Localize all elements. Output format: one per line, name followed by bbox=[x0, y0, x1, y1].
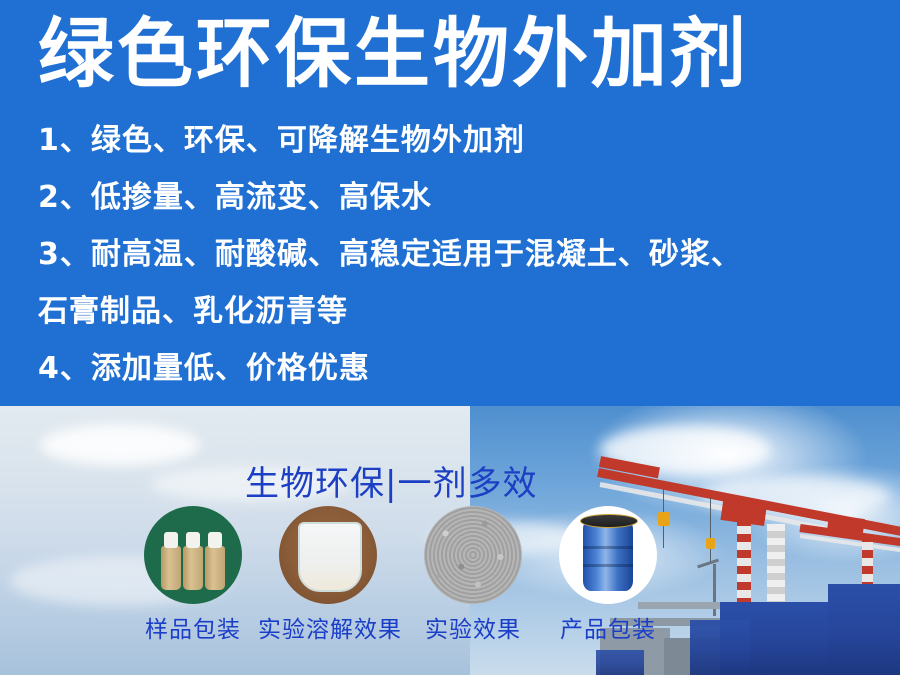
product-poster: 绿色环保生物外加剂 1、绿色、环保、可降解生物外加剂 2、低掺量、高流变、高保水… bbox=[0, 0, 900, 675]
blue-drum-photo bbox=[559, 506, 657, 604]
feature-item-1: 1、绿色、环保、可降解生物外加剂 bbox=[38, 112, 878, 169]
headline-banner: 绿色环保生物外加剂 1、绿色、环保、可降解生物外加剂 2、低掺量、高流变、高保水… bbox=[0, 0, 900, 406]
gallery-item-dissolution-test[interactable]: 实验溶解效果 bbox=[258, 506, 398, 644]
drum-lid-icon bbox=[580, 514, 638, 528]
page-title: 绿色环保生物外加剂 bbox=[38, 4, 868, 104]
drum-rib bbox=[583, 564, 633, 567]
sample-bottles-photo bbox=[144, 506, 242, 604]
gallery-item-product-packaging[interactable]: 产品包装 bbox=[538, 506, 678, 644]
gallery-item-label: 实验效果 bbox=[403, 610, 543, 644]
sample-bottle-icon bbox=[161, 546, 181, 590]
beaker-photo bbox=[279, 506, 377, 604]
feature-list: 1、绿色、环保、可降解生物外加剂 2、低掺量、高流变、高保水 3、耐高温、耐酸碱… bbox=[38, 112, 878, 397]
feature-item-2: 2、低掺量、高流变、高保水 bbox=[38, 169, 878, 226]
product-gallery: 样品包装 实验溶解效果 实验效果 产品包装 bbox=[0, 406, 900, 675]
section-subtitle: 生物环保|一剂多效 bbox=[245, 456, 537, 505]
gallery-item-label: 产品包装 bbox=[538, 610, 678, 644]
feature-item-3: 3、耐高温、耐酸碱、高稳定适用于混凝土、砂浆、 bbox=[38, 226, 878, 283]
gallery-item-label: 实验溶解效果 bbox=[258, 610, 398, 644]
beaker-icon bbox=[298, 522, 362, 592]
gallery-item-test-result[interactable]: 实验效果 bbox=[403, 506, 543, 644]
drum-rib bbox=[583, 546, 633, 549]
sample-bottle-icon bbox=[205, 546, 225, 590]
feature-item-4: 4、添加量低、价格优惠 bbox=[38, 340, 878, 397]
sample-bottle-icon bbox=[183, 546, 203, 590]
mortar-texture-photo bbox=[424, 506, 522, 604]
drum-body-icon bbox=[583, 519, 633, 591]
gallery-item-label: 样品包装 bbox=[123, 610, 263, 644]
gallery-item-sample-packaging[interactable]: 样品包装 bbox=[123, 506, 263, 644]
feature-item-3-continued: 石膏制品、乳化沥青等 bbox=[38, 283, 878, 340]
